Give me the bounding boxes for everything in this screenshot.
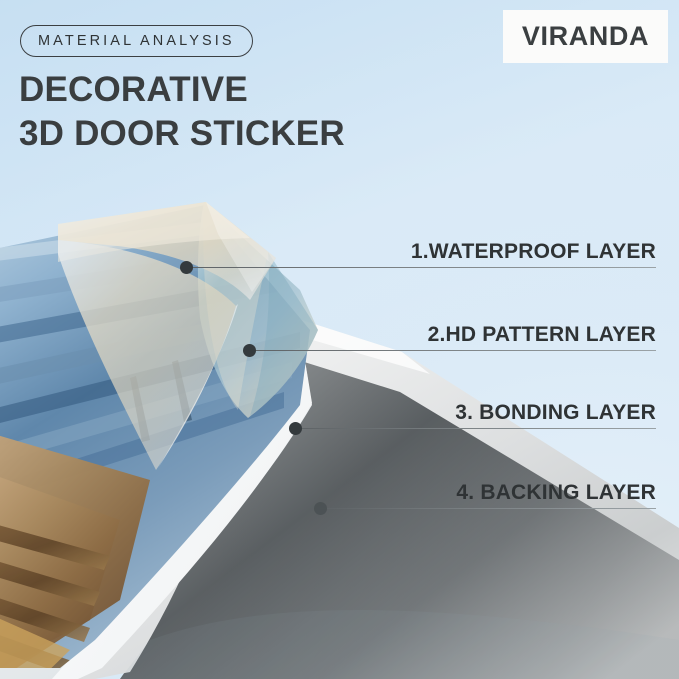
page-title-line-2: 3D DOOR STICKER (19, 112, 345, 156)
page-title-line-1: DECORATIVE (19, 70, 248, 109)
callout-connector-line (320, 508, 656, 509)
page-title: DECORATIVE 3D DOOR STICKER (19, 68, 345, 156)
callout-label: 2.HD PATTERN LAYER (428, 323, 656, 347)
brand-logo-box: VIRANDA (503, 10, 668, 63)
callout-connector-line (249, 350, 656, 351)
callout-dot-icon (180, 261, 193, 274)
infographic-canvas: MATERIAL ANALYSIS DECORATIVE 3D DOOR STI… (0, 0, 679, 679)
callout-label: 3. BONDING LAYER (455, 401, 656, 425)
callout-dot-icon (289, 422, 302, 435)
callout-dot-icon (243, 344, 256, 357)
callout-connector-line (295, 428, 656, 429)
brand-logo-text: VIRANDA (522, 21, 649, 52)
badge-label: MATERIAL ANALYSIS (38, 33, 235, 49)
callout-dot-icon (314, 502, 327, 515)
callout-connector-line (186, 267, 656, 268)
callout-label: 4. BACKING LAYER (456, 481, 656, 505)
callout-label: 1.WATERPROOF LAYER (411, 240, 656, 264)
material-analysis-badge: MATERIAL ANALYSIS (20, 25, 253, 57)
